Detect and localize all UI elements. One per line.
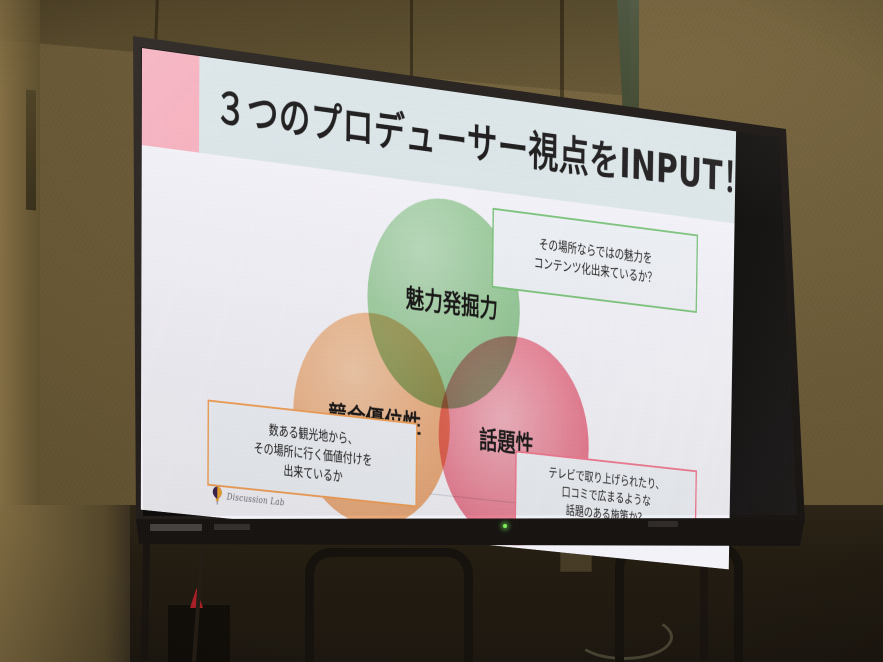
callout-text-orange: 数ある観光地から、 その場所に行く価値付けを 出来ているか (254, 418, 373, 489)
presentation-slide: ３つのプロデューサー視点をINPUT！ 魅力発掘力 競合優位性 話題性 その場所… (141, 48, 736, 569)
tv-screen: ３つのプロデューサー視点をINPUT！ 魅力発掘力 競合優位性 話題性 その場所… (0, 0, 883, 662)
tv-brand-logo (150, 524, 202, 531)
callout-box-green: その場所ならではの魅力を コンテンツ化出来ているか？ (492, 208, 698, 313)
balloon-icon (212, 485, 223, 505)
tv-control-text (648, 521, 678, 527)
tv-power-led (503, 524, 507, 528)
photo-scene: ３つのプロデューサー視点をINPUT！ 魅力発掘力 競合優位性 話題性 その場所… (0, 0, 883, 662)
callout-text-green: その場所ならではの魅力を コンテンツ化出来ているか？ (534, 234, 657, 288)
brand-name: Discussion Lab (227, 491, 285, 508)
tv-model-text (214, 524, 250, 530)
slide-header-accent-block (142, 48, 200, 153)
